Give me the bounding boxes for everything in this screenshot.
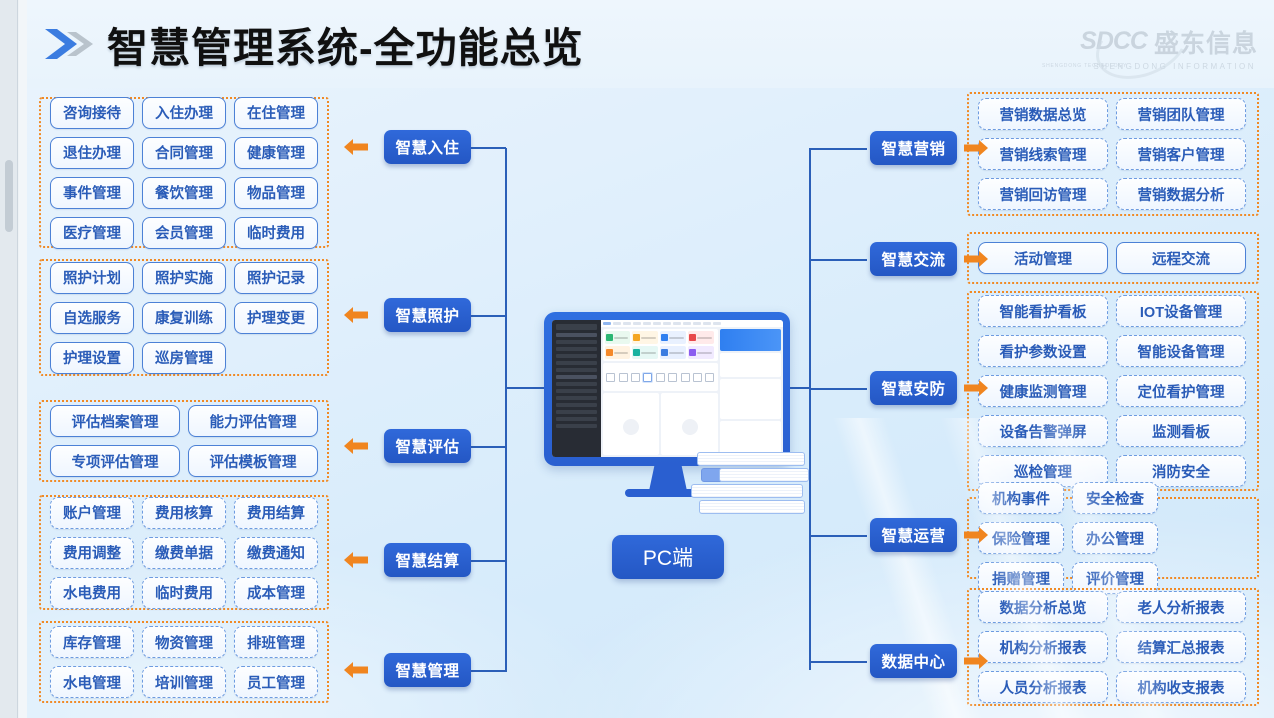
category-label: 智慧管理 bbox=[395, 659, 459, 681]
double-chevron-right-icon bbox=[43, 25, 97, 63]
feature-button[interactable]: 在住管理 bbox=[234, 97, 318, 129]
arrow-right-5-icon bbox=[963, 650, 989, 672]
feature-button[interactable]: 咨询接待 bbox=[50, 97, 134, 129]
feature-button[interactable]: 事件管理 bbox=[50, 177, 134, 209]
category-zhihui-zhaohu[interactable]: 智慧照护 bbox=[384, 298, 471, 332]
group-box-zhihui-anfang: 智能看护看板IOT设备管理看护参数设置智能设备管理健康监测管理定位看护管理设备告… bbox=[967, 291, 1259, 491]
feature-button[interactable]: 能力评估管理 bbox=[188, 405, 318, 437]
arrow-left-2-icon bbox=[343, 304, 369, 326]
feature-button[interactable]: 费用调整 bbox=[50, 537, 134, 569]
dashboard-sidebar bbox=[552, 320, 601, 457]
feature-button[interactable]: 评估档案管理 bbox=[50, 405, 180, 437]
feature-button[interactable]: 营销回访管理 bbox=[978, 178, 1108, 210]
feature-button[interactable]: 巡房管理 bbox=[142, 342, 226, 374]
header-bar: 智慧管理系统-全功能总览 SDCC 盛东信息 SHENGDONG INFORMA… bbox=[27, 0, 1274, 88]
group-box-zhihui-yunying: 机构事件安全检查保险管理办公管理捐赠管理评价管理 bbox=[967, 497, 1259, 579]
dashboard-tabbar bbox=[601, 320, 784, 327]
feature-button[interactable]: 物资管理 bbox=[142, 626, 226, 658]
category-label: 智慧照护 bbox=[395, 304, 459, 326]
group-box-zhihui-yingxiao: 营销数据总览营销团队管理营销线索管理营销客户管理营销回访管理营销数据分析 bbox=[967, 92, 1259, 216]
feature-button[interactable]: 康复训练 bbox=[142, 302, 226, 334]
category-zhihui-jiesuan[interactable]: 智慧结算 bbox=[384, 543, 471, 577]
category-zhihui-jiaoliu[interactable]: 智慧交流 bbox=[870, 242, 957, 276]
feature-button[interactable]: 保险管理 bbox=[978, 522, 1064, 554]
connector-left-trunk bbox=[505, 148, 507, 672]
dashboard-quick-icons bbox=[603, 363, 719, 391]
category-label: 数据中心 bbox=[881, 650, 945, 672]
feature-button[interactable]: 入住办理 bbox=[142, 97, 226, 129]
connector-right-branch-1 bbox=[809, 148, 867, 150]
dashboard-screenshot bbox=[552, 320, 783, 457]
feature-button[interactable]: 人员分析报表 bbox=[978, 671, 1108, 703]
feature-button[interactable]: 培训管理 bbox=[142, 666, 226, 698]
connector-right-branch-5 bbox=[809, 661, 867, 663]
feature-button[interactable]: 营销数据总览 bbox=[978, 98, 1108, 130]
group-box-shuju-zhongxin: 数据分析总览老人分析报表机构分析报表结算汇总报表人员分析报表机构收支报表 bbox=[967, 588, 1259, 706]
feature-button[interactable]: 餐饮管理 bbox=[142, 177, 226, 209]
feature-button[interactable]: 医疗管理 bbox=[50, 217, 134, 249]
connector-left-branch-4 bbox=[471, 560, 506, 562]
feature-button[interactable]: 库存管理 bbox=[50, 626, 134, 658]
category-label: 智慧营销 bbox=[881, 137, 945, 159]
feature-button[interactable]: 办公管理 bbox=[1072, 522, 1158, 554]
arrow-left-1-icon bbox=[343, 136, 369, 158]
dashboard-mini-grid bbox=[720, 353, 781, 377]
monitor-stand-neck bbox=[649, 466, 687, 491]
feature-button[interactable]: 护理变更 bbox=[234, 302, 318, 334]
feature-button[interactable]: 物品管理 bbox=[234, 177, 318, 209]
feature-button[interactable]: 缴费单据 bbox=[142, 537, 226, 569]
feature-button[interactable]: 水电费用 bbox=[50, 577, 134, 609]
dashboard-content bbox=[601, 320, 784, 457]
connector-left-branch-1 bbox=[471, 147, 506, 149]
book-1 bbox=[697, 452, 805, 466]
pc-monitor-illustration bbox=[544, 312, 790, 466]
feature-button[interactable]: 定位看护管理 bbox=[1116, 375, 1246, 407]
group-box-zhihui-pinggu: 评估档案管理能力评估管理专项评估管理评估模板管理 bbox=[39, 400, 329, 482]
feature-button[interactable]: 评估模板管理 bbox=[188, 445, 318, 477]
feature-button[interactable]: 机构事件 bbox=[978, 482, 1064, 514]
connector-right-branch-2 bbox=[809, 259, 867, 261]
feature-button[interactable]: 自选服务 bbox=[50, 302, 134, 334]
dashboard-mini-chart bbox=[720, 379, 781, 419]
dashboard-list-panel-right bbox=[661, 393, 718, 455]
feature-button[interactable]: 护理设置 bbox=[50, 342, 134, 374]
feature-button[interactable]: 员工管理 bbox=[234, 666, 318, 698]
category-label: 智慧运营 bbox=[881, 524, 945, 546]
feature-button[interactable]: 远程交流 bbox=[1116, 242, 1246, 274]
feature-button[interactable]: 机构分析报表 bbox=[978, 631, 1108, 663]
category-zhihui-ruzhu[interactable]: 智慧入住 bbox=[384, 130, 471, 164]
group-box-zhihui-jiaoliu: 活动管理远程交流 bbox=[967, 232, 1259, 284]
arrow-left-5-icon bbox=[343, 659, 369, 681]
connector-left-branch-3 bbox=[471, 446, 506, 448]
group-box-zhihui-guanli: 库存管理物资管理排班管理水电管理培训管理员工管理 bbox=[39, 621, 329, 703]
feature-button[interactable]: 结算汇总报表 bbox=[1116, 631, 1246, 663]
feature-button[interactable]: 老人分析报表 bbox=[1116, 591, 1246, 623]
feature-button[interactable]: 临时费用 bbox=[234, 217, 318, 249]
feature-button[interactable]: 营销线索管理 bbox=[978, 138, 1108, 170]
feature-button[interactable]: 营销数据分析 bbox=[1116, 178, 1246, 210]
feature-button[interactable]: 费用结算 bbox=[234, 497, 318, 529]
category-label: 智慧评估 bbox=[395, 435, 459, 457]
connector-right-branch-3 bbox=[809, 388, 867, 390]
feature-button[interactable]: 会员管理 bbox=[142, 217, 226, 249]
book-3 bbox=[691, 484, 803, 498]
feature-button[interactable]: 照护记录 bbox=[234, 262, 318, 294]
slide-canvas: 智慧管理系统-全功能总览 SDCC 盛东信息 SHENGDONG INFORMA… bbox=[27, 0, 1274, 718]
group-box-zhihui-jiesuan: 账户管理费用核算费用结算费用调整缴费单据缴费通知水电费用临时费用成本管理 bbox=[39, 495, 329, 610]
feature-button[interactable]: 临时费用 bbox=[142, 577, 226, 609]
feature-button[interactable]: 营销客户管理 bbox=[1116, 138, 1246, 170]
feature-button[interactable]: 机构收支报表 bbox=[1116, 671, 1246, 703]
device-label-text: PC端 bbox=[643, 542, 693, 572]
category-shuju-zhongxin[interactable]: 数据中心 bbox=[870, 644, 957, 678]
arrow-right-4-icon bbox=[963, 524, 989, 546]
device-label-pc[interactable]: PC端 bbox=[612, 535, 724, 579]
feature-button[interactable]: 安全检查 bbox=[1072, 482, 1158, 514]
viewer-page-margin bbox=[19, 0, 27, 718]
viewer-gutter bbox=[0, 0, 18, 718]
feature-button[interactable]: 健康管理 bbox=[234, 137, 318, 169]
feature-button[interactable]: 设备告警弹屏 bbox=[978, 415, 1108, 447]
category-zhihui-yingxiao[interactable]: 智慧营销 bbox=[870, 131, 957, 165]
category-zhihui-pinggu[interactable]: 智慧评估 bbox=[384, 429, 471, 463]
category-label: 智慧入住 bbox=[395, 136, 459, 158]
feature-button[interactable]: IOT设备管理 bbox=[1116, 295, 1246, 327]
arrow-left-3-icon bbox=[343, 435, 369, 457]
book-4 bbox=[699, 500, 805, 514]
company-logo-watermark: SDCC 盛东信息 SHENGDONG INFORMATION SHENGDON… bbox=[1036, 22, 1258, 72]
arrow-right-3-icon bbox=[963, 377, 989, 399]
dashboard-news-list bbox=[720, 421, 781, 455]
group-box-zhihui-zhaohu: 照护计划照护实施照护记录自选服务康复训练护理变更护理设置巡房管理 bbox=[39, 259, 329, 376]
connector-left-to-monitor bbox=[505, 387, 547, 389]
logo-swoosh-icon bbox=[1086, 0, 1198, 92]
connector-right-trunk bbox=[809, 149, 811, 670]
connector-left-branch-5 bbox=[471, 670, 506, 672]
arrow-right-1-icon bbox=[963, 137, 989, 159]
feature-button[interactable]: 专项评估管理 bbox=[50, 445, 180, 477]
category-label: 智慧交流 bbox=[881, 248, 945, 270]
arrow-right-2-icon bbox=[963, 248, 989, 270]
feature-button[interactable]: 成本管理 bbox=[234, 577, 318, 609]
category-label: 智慧安防 bbox=[881, 377, 945, 399]
category-zhihui-guanli[interactable]: 智慧管理 bbox=[384, 653, 471, 687]
dashboard-list-panel-left bbox=[603, 393, 660, 455]
feature-button[interactable]: 智能看护看板 bbox=[978, 295, 1108, 327]
feature-button[interactable]: 合同管理 bbox=[142, 137, 226, 169]
feature-button[interactable]: 费用核算 bbox=[142, 497, 226, 529]
page-title: 智慧管理系统-全功能总览 bbox=[107, 14, 584, 74]
feature-button[interactable]: 活动管理 bbox=[978, 242, 1108, 274]
feature-button[interactable]: 缴费通知 bbox=[234, 537, 318, 569]
feature-button[interactable]: 健康监测管理 bbox=[978, 375, 1108, 407]
feature-button[interactable]: 照护计划 bbox=[50, 262, 134, 294]
group-box-zhihui-ruzhu: 咨询接待入住办理在住管理退住办理合同管理健康管理事件管理餐饮管理物品管理医疗管理… bbox=[39, 97, 329, 248]
book-2 bbox=[719, 468, 809, 482]
dashboard-stat-cards bbox=[603, 329, 719, 361]
books-stack-illustration bbox=[697, 452, 809, 514]
category-label: 智慧结算 bbox=[395, 549, 459, 571]
feature-button[interactable]: 退住办理 bbox=[50, 137, 134, 169]
feature-button[interactable]: 账户管理 bbox=[50, 497, 134, 529]
feature-button[interactable]: 监测看板 bbox=[1116, 415, 1246, 447]
category-zhihui-anfang[interactable]: 智慧安防 bbox=[870, 371, 957, 405]
feature-button[interactable]: 数据分析总览 bbox=[978, 591, 1108, 623]
category-zhihui-yunying[interactable]: 智慧运营 bbox=[870, 518, 957, 552]
feature-button[interactable]: 看护参数设置 bbox=[978, 335, 1108, 367]
connector-left-branch-2 bbox=[471, 315, 506, 317]
feature-button[interactable]: 水电管理 bbox=[50, 666, 134, 698]
feature-button[interactable]: 照护实施 bbox=[142, 262, 226, 294]
dashboard-user-banner bbox=[720, 329, 781, 351]
feature-button[interactable]: 排班管理 bbox=[234, 626, 318, 658]
arrow-left-4-icon bbox=[343, 549, 369, 571]
feature-button[interactable]: 智能设备管理 bbox=[1116, 335, 1246, 367]
feature-button[interactable]: 营销团队管理 bbox=[1116, 98, 1246, 130]
connector-right-branch-4 bbox=[809, 535, 867, 537]
title-group: 智慧管理系统-全功能总览 bbox=[43, 14, 584, 74]
vertical-scrollbar-thumb[interactable] bbox=[5, 160, 13, 232]
logo-tagline: SHENGDONG TECHNOLOGY bbox=[1042, 63, 1127, 69]
